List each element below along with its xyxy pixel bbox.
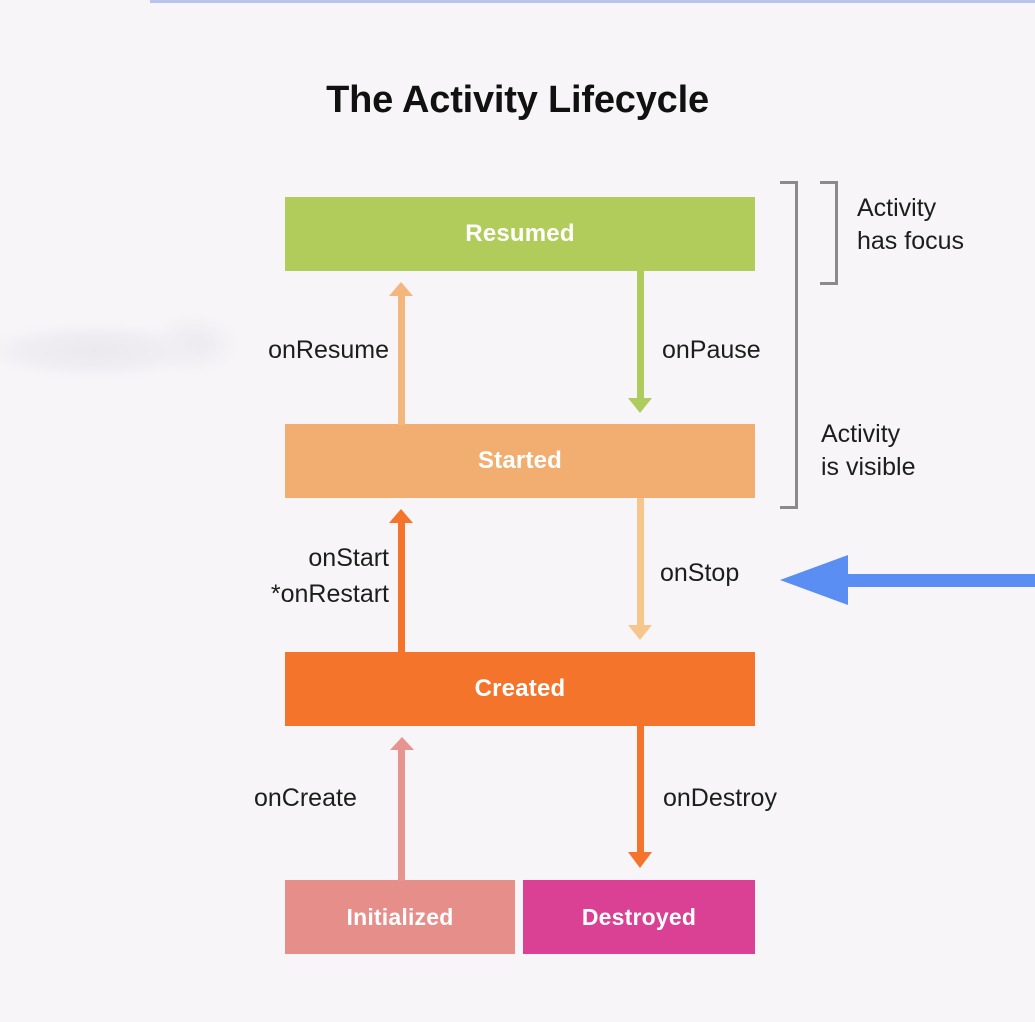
arrow-onpause-shaft [637,271,644,399]
page-title: The Activity Lifecycle [0,79,1035,122]
arrow-onstop-head-down-icon [628,625,652,640]
arrow-onstop-shaft [637,498,644,626]
state-label-initialized: Initialized [347,904,454,931]
transition-label-onstop: onStop [660,555,739,591]
bracket-activity-has-focus [820,181,838,285]
annotation-activity-is-visible: Activity is visible [821,418,915,484]
background-smudge-artifact [0,308,235,393]
arrow-onstart-head-up-icon [389,509,413,523]
top-accent-strip [150,0,1035,3]
transition-label-onpause: onPause [662,332,761,368]
transition-label-ondestroy: onDestroy [663,780,777,816]
transition-label-onresume: onResume [237,332,389,368]
blue-pointer-head [780,555,848,605]
arrow-onpause-head-down-icon [628,398,652,413]
arrow-oncreate-shaft [398,748,405,881]
transition-label-onstart-onrestart: onStart *onRestart [237,540,389,613]
arrow-oncreate-head-up-icon [390,737,414,750]
state-label-started: Started [478,447,562,475]
arrow-ondestroy-head-down-icon [628,852,652,868]
arrow-onresume-head-up-icon [389,282,413,296]
state-box-started[interactable]: Started [285,424,755,498]
state-label-created: Created [475,675,566,703]
diagram-canvas: The Activity Lifecycle Resumed Started C… [0,0,1035,1022]
state-label-resumed: Resumed [465,220,574,248]
bracket-activity-is-visible [780,181,798,509]
state-box-destroyed[interactable]: Destroyed [523,880,755,954]
blue-pointer-arrow-icon [780,555,1035,605]
state-box-initialized[interactable]: Initialized [285,880,515,954]
state-label-destroyed: Destroyed [582,904,696,931]
state-box-resumed[interactable]: Resumed [285,197,755,271]
state-box-created[interactable]: Created [285,652,755,726]
transition-label-oncreate: onCreate [254,780,357,816]
blue-pointer-shaft [846,574,1035,587]
annotation-activity-has-focus: Activity has focus [857,192,964,258]
arrow-onresume-shaft [398,294,405,425]
arrow-ondestroy-shaft [637,726,644,853]
arrow-onstart-shaft [398,521,405,653]
